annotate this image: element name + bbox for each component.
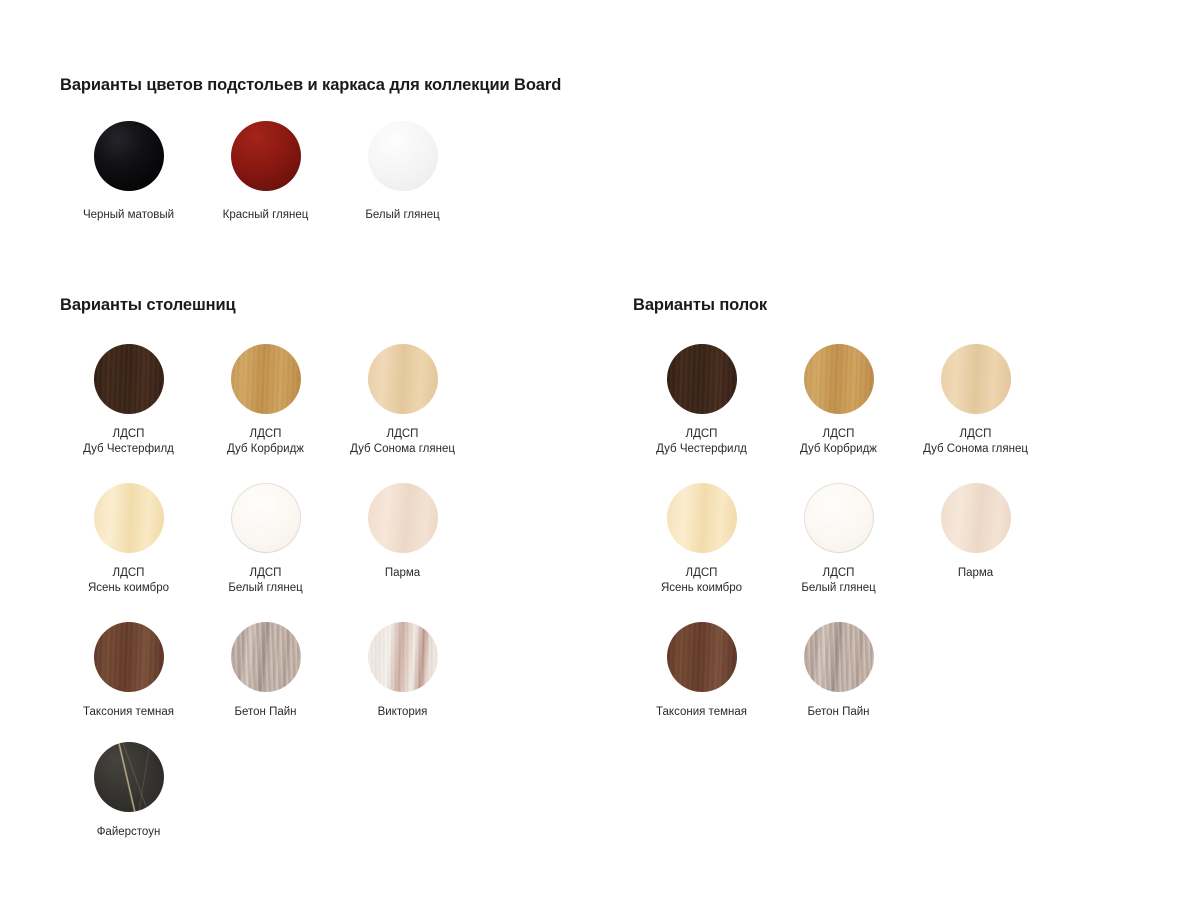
swatch-label-line2: Белый глянец bbox=[228, 581, 302, 596]
ash-coimbra-swatch-icon[interactable] bbox=[94, 483, 164, 553]
shelves-swatch-grid: ЛДСП Дуб Честерфилд ЛДСП Дуб Корбридж ЛД… bbox=[633, 344, 1053, 742]
oak-chesterfield-swatch-icon[interactable] bbox=[667, 344, 737, 414]
swatch-option-oak-chesterfield[interactable]: ЛДСП Дуб Честерфилд bbox=[60, 344, 197, 483]
swatch-label-line2: Ясень коимбро bbox=[661, 581, 742, 596]
oak-chesterfield-swatch-icon[interactable] bbox=[94, 344, 164, 414]
swatch-option-oak-corbridge[interactable]: ЛДСП Дуб Корбридж bbox=[770, 344, 907, 483]
white-gloss-panel-swatch-icon[interactable] bbox=[804, 483, 874, 553]
swatch-option-parma[interactable]: Парма bbox=[334, 483, 471, 622]
oak-corbridge-swatch-icon[interactable] bbox=[804, 344, 874, 414]
swatch-label-line1: ЛДСП bbox=[113, 428, 145, 440]
swatch-label-line1: Парма bbox=[385, 567, 420, 579]
swatch-option-firestone[interactable]: Файерстоун bbox=[60, 742, 197, 862]
swatch-option-white-gloss-panel[interactable]: ЛДСП Белый глянец bbox=[770, 483, 907, 622]
swatch-label: ЛДСП Дуб Честерфилд bbox=[83, 427, 174, 457]
swatch-label: Белый глянец bbox=[365, 208, 439, 223]
swatch-option-red-gloss[interactable]: Красный глянец bbox=[197, 121, 334, 223]
taxonia-dark-swatch-icon[interactable] bbox=[94, 622, 164, 692]
swatch-label: ЛДСП Ясень коимбро bbox=[661, 566, 742, 596]
tabletops-section: Варианты столешниц bbox=[60, 296, 236, 315]
swatch-label-line1: Таксония темная bbox=[83, 706, 174, 718]
beton-pine-swatch-icon[interactable] bbox=[804, 622, 874, 692]
firestone-swatch-icon[interactable] bbox=[94, 742, 164, 812]
swatch-label: ЛДСП Дуб Корбридж bbox=[227, 427, 304, 457]
swatch-label: Таксония темная bbox=[656, 705, 747, 720]
swatch-option-oak-sonoma-gloss[interactable]: ЛДСП Дуб Сонома глянец bbox=[334, 344, 471, 483]
white-gloss-panel-swatch-icon[interactable] bbox=[231, 483, 301, 553]
swatch-option-ash-coimbra[interactable]: ЛДСП Ясень коимбро bbox=[633, 483, 770, 622]
swatch-label: Виктория bbox=[378, 705, 428, 720]
swatch-option-victoria[interactable]: Виктория bbox=[334, 622, 471, 742]
swatch-label-line1: ЛДСП bbox=[387, 428, 419, 440]
swatch-label: Черный матовый bbox=[83, 208, 174, 223]
tabletops-swatch-grid: ЛДСП Дуб Честерфилд ЛДСП Дуб Корбридж ЛД… bbox=[60, 344, 480, 862]
swatch-label: Красный глянец bbox=[223, 208, 309, 223]
swatch-label-line1: Файерстоун bbox=[97, 826, 161, 838]
swatch-option-oak-corbridge[interactable]: ЛДСП Дуб Корбридж bbox=[197, 344, 334, 483]
swatch-option-black-matte[interactable]: Черный матовый bbox=[60, 121, 197, 223]
swatch-label-line2: Белый глянец bbox=[801, 581, 875, 596]
oak-corbridge-swatch-icon[interactable] bbox=[231, 344, 301, 414]
swatch-option-parma[interactable]: Парма bbox=[907, 483, 1044, 622]
swatch-label-line1: ЛДСП bbox=[960, 428, 992, 440]
swatch-option-beton-pine[interactable]: Бетон Пайн bbox=[770, 622, 907, 742]
swatch-label: ЛДСП Дуб Сонома глянец bbox=[350, 427, 455, 457]
swatch-label: Парма bbox=[385, 566, 420, 581]
swatch-label: Бетон Пайн bbox=[234, 705, 296, 720]
swatch-label: ЛДСП Белый глянец bbox=[801, 566, 875, 596]
red-gloss-swatch-icon[interactable] bbox=[231, 121, 301, 191]
swatch-label-line2: Дуб Сонома глянец bbox=[350, 442, 455, 457]
parma-swatch-icon[interactable] bbox=[368, 483, 438, 553]
tabletops-title: Варианты столешниц bbox=[60, 296, 236, 315]
frame-colors-title: Варианты цветов подстольев и каркаса для… bbox=[60, 76, 561, 95]
swatch-label-line1: ЛДСП bbox=[250, 567, 282, 579]
swatch-label-line1: Бетон Пайн bbox=[807, 706, 869, 718]
shelves-title: Варианты полок bbox=[633, 296, 767, 315]
swatch-label-line2: Дуб Сонома глянец bbox=[923, 442, 1028, 457]
swatch-label: ЛДСП Дуб Честерфилд bbox=[656, 427, 747, 457]
swatch-option-oak-chesterfield[interactable]: ЛДСП Дуб Честерфилд bbox=[633, 344, 770, 483]
frame-colors-section: Варианты цветов подстольев и каркаса для… bbox=[60, 76, 561, 95]
swatch-label: ЛДСП Ясень коимбро bbox=[88, 566, 169, 596]
white-gloss-swatch-icon[interactable] bbox=[368, 121, 438, 191]
swatch-label-line1: ЛДСП bbox=[250, 428, 282, 440]
taxonia-dark-swatch-icon[interactable] bbox=[667, 622, 737, 692]
swatch-option-white-gloss[interactable]: Белый глянец bbox=[334, 121, 471, 223]
swatch-label-line2: Дуб Честерфилд bbox=[83, 442, 174, 457]
swatch-option-beton-pine[interactable]: Бетон Пайн bbox=[197, 622, 334, 742]
swatch-option-taxonia-dark[interactable]: Таксония темная bbox=[60, 622, 197, 742]
swatch-label-line2: Дуб Корбридж bbox=[227, 442, 304, 457]
swatch-label: Файерстоун bbox=[97, 825, 161, 840]
swatch-label-line1: ЛДСП bbox=[823, 567, 855, 579]
swatch-label: Таксония темная bbox=[83, 705, 174, 720]
swatch-label-line2: Ясень коимбро bbox=[88, 581, 169, 596]
swatch-label-line1: Таксония темная bbox=[656, 706, 747, 718]
swatch-label-line1: ЛДСП bbox=[113, 567, 145, 579]
swatch-label-line1: Бетон Пайн bbox=[234, 706, 296, 718]
swatch-label: ЛДСП Дуб Корбридж bbox=[800, 427, 877, 457]
swatch-label: ЛДСП Белый глянец bbox=[228, 566, 302, 596]
swatch-label-line1: Парма bbox=[958, 567, 993, 579]
swatch-label: Бетон Пайн bbox=[807, 705, 869, 720]
oak-sonoma-gloss-swatch-icon[interactable] bbox=[941, 344, 1011, 414]
swatch-label: ЛДСП Дуб Сонома глянец bbox=[923, 427, 1028, 457]
swatch-label-line2: Дуб Честерфилд bbox=[656, 442, 747, 457]
swatch-label-line2: Дуб Корбридж bbox=[800, 442, 877, 457]
beton-pine-swatch-icon[interactable] bbox=[231, 622, 301, 692]
swatch-label-line1: ЛДСП bbox=[686, 567, 718, 579]
swatch-option-ash-coimbra[interactable]: ЛДСП Ясень коимбро bbox=[60, 483, 197, 622]
swatch-option-taxonia-dark[interactable]: Таксония темная bbox=[633, 622, 770, 742]
color-options-page: Варианты цветов подстольев и каркаса для… bbox=[0, 0, 1200, 900]
ash-coimbra-swatch-icon[interactable] bbox=[667, 483, 737, 553]
swatch-label-line1: Виктория bbox=[378, 706, 428, 718]
victoria-swatch-icon[interactable] bbox=[368, 622, 438, 692]
swatch-label: Парма bbox=[958, 566, 993, 581]
oak-sonoma-gloss-swatch-icon[interactable] bbox=[368, 344, 438, 414]
shelves-section: Варианты полок bbox=[633, 296, 767, 315]
parma-swatch-icon[interactable] bbox=[941, 483, 1011, 553]
swatch-option-oak-sonoma-gloss[interactable]: ЛДСП Дуб Сонома глянец bbox=[907, 344, 1044, 483]
swatch-label-line1: ЛДСП bbox=[686, 428, 718, 440]
black-matte-swatch-icon[interactable] bbox=[94, 121, 164, 191]
frame-colors-swatch-row: Черный матовый Красный глянец Белый глян… bbox=[60, 121, 471, 223]
swatch-option-white-gloss-panel[interactable]: ЛДСП Белый глянец bbox=[197, 483, 334, 622]
swatch-label-line1: ЛДСП bbox=[823, 428, 855, 440]
